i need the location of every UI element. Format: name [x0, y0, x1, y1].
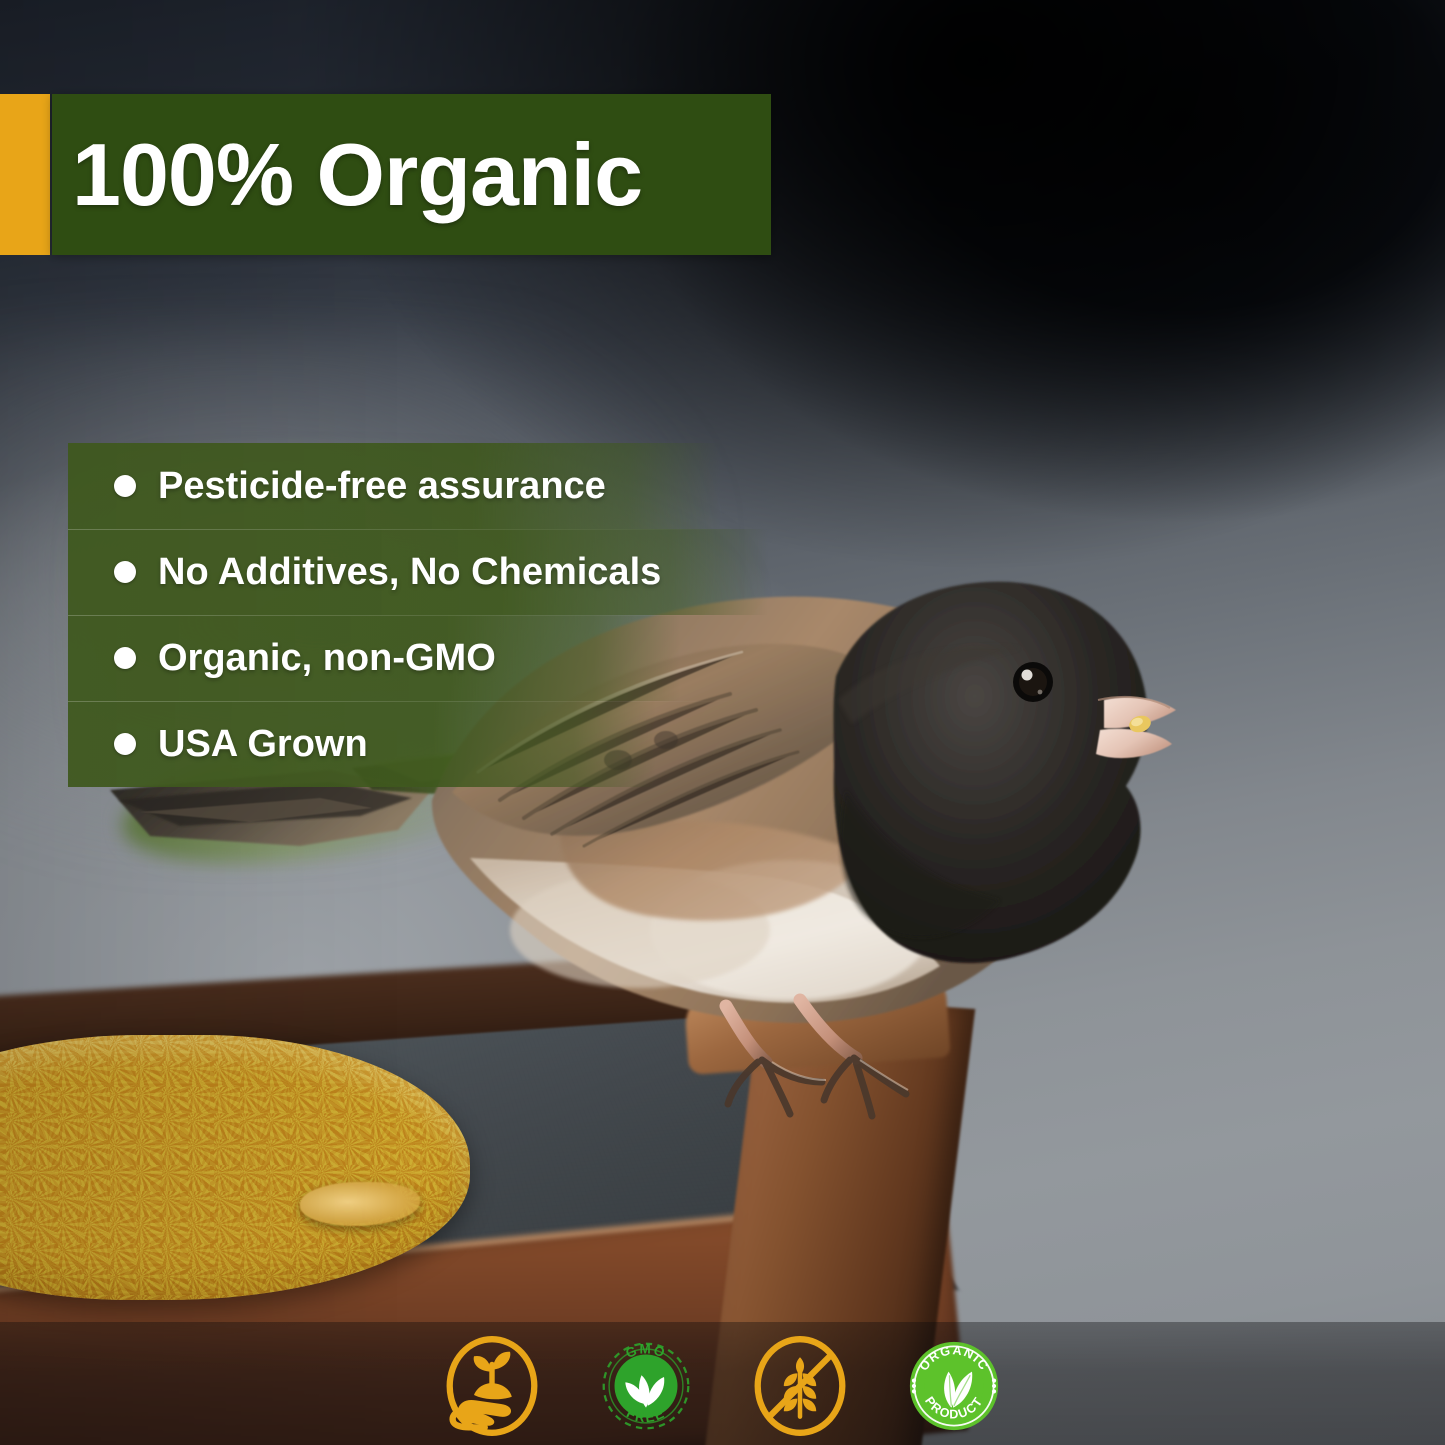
product-infographic: 100% Organic Pesticide-free assurance No…: [0, 0, 1445, 1445]
header-banner: 100% Organic: [52, 94, 771, 255]
bullet-dot-icon: [114, 475, 136, 497]
bullet-dot-icon: [114, 733, 136, 755]
feature-label: No Additives, No Chemicals: [158, 551, 661, 594]
bullet-dot-icon: [114, 561, 136, 583]
feature-list: Pesticide-free assurance No Additives, N…: [68, 443, 768, 787]
feature-item-no-additives: No Additives, No Chemicals: [68, 529, 768, 615]
feature-item-organic-non-gmo: Organic, non-GMO: [68, 615, 768, 701]
hand-holding-sprout-icon: [438, 1332, 546, 1440]
gmo-free-badge-icon: GMO FREE: [592, 1332, 700, 1440]
header-accent-bar: [0, 94, 50, 255]
feature-label: Pesticide-free assurance: [158, 465, 606, 508]
organic-product-badge-icon: ORGANIC PRODUCT: [900, 1332, 1008, 1440]
bullet-dot-icon: [114, 647, 136, 669]
feature-item-pesticide-free: Pesticide-free assurance: [68, 443, 768, 529]
wheat-stalk-crossed-icon: [746, 1332, 854, 1440]
feature-item-usa-grown: USA Grown: [68, 701, 768, 787]
page-title: 100% Organic: [72, 131, 642, 219]
feature-label: Organic, non-GMO: [158, 637, 496, 680]
certification-badge-row: GMO FREE: [0, 1330, 1445, 1442]
feature-label: USA Grown: [158, 723, 368, 766]
